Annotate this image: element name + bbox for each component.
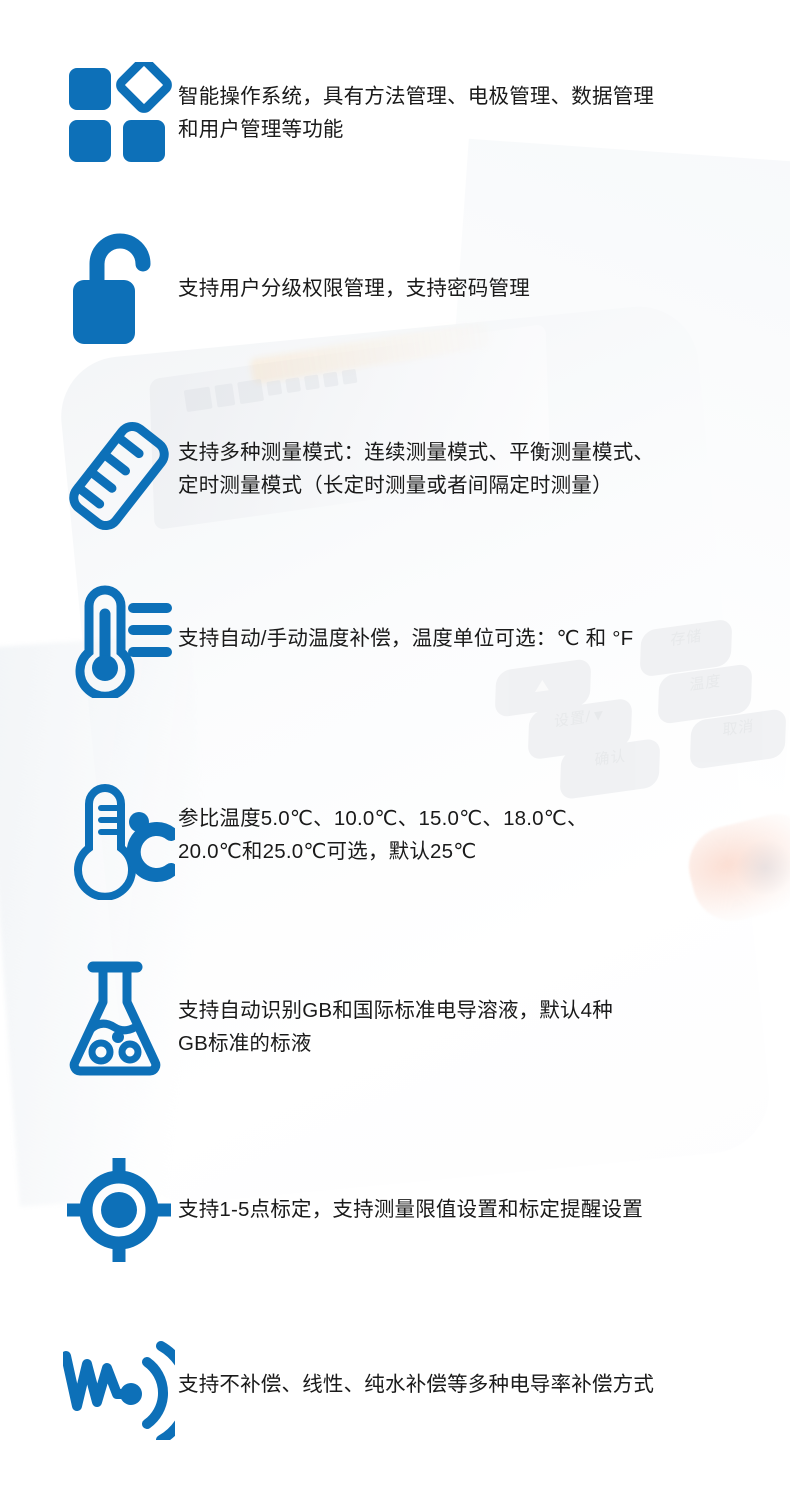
unlock-icon (60, 232, 178, 350)
feature-text: 支持不补偿、线性、纯水补偿等多种电导率补偿方式 (178, 1336, 654, 1401)
thermometer-celsius-icon (60, 782, 178, 900)
feature-text: 支持自动/手动温度补偿，温度单位可选：℃ 和 °F (178, 580, 633, 655)
flask-icon (60, 958, 178, 1076)
feature-row: 支持多种测量模式：连续测量模式、平衡测量模式、 定时测量模式（长定时测量或者间隔… (60, 420, 654, 532)
feature-text: 参比温度5.0℃、10.0℃、15.0℃、18.0℃、 20.0℃和25.0℃可… (178, 782, 588, 868)
feature-text: 智能操作系统，具有方法管理、电极管理、数据管理 和用户管理等功能 (178, 62, 654, 146)
feature-row: 支持用户分级权限管理，支持密码管理 (60, 232, 530, 350)
feature-row: 支持不补偿、线性、纯水补偿等多种电导率补偿方式 (60, 1336, 654, 1440)
target-crosshair-icon (60, 1155, 178, 1265)
feature-row: 支持1-5点标定，支持测量限值设置和标定提醒设置 (60, 1155, 643, 1265)
thermometer-lines-icon (60, 580, 178, 698)
app-grid-icon (60, 62, 178, 170)
ruler-icon (60, 420, 178, 532)
feature-row: 支持自动识别GB和国际标准电导溶液，默认4种 GB标准的标液 (60, 958, 613, 1076)
feature-text: 支持自动识别GB和国际标准电导溶液，默认4种 GB标准的标液 (178, 958, 613, 1060)
feature-row: 智能操作系统，具有方法管理、电极管理、数据管理 和用户管理等功能 (60, 62, 654, 170)
feature-list: 智能操作系统，具有方法管理、电极管理、数据管理 和用户管理等功能 支持用户分级权… (0, 0, 790, 1499)
feature-text: 支持1-5点标定，支持测量限值设置和标定提醒设置 (178, 1155, 643, 1226)
feature-text: 支持用户分级权限管理，支持密码管理 (178, 232, 530, 305)
feature-row: 参比温度5.0℃、10.0℃、15.0℃、18.0℃、 20.0℃和25.0℃可… (60, 782, 588, 900)
signal-waveform-icon (60, 1336, 178, 1440)
feature-text: 支持多种测量模式：连续测量模式、平衡测量模式、 定时测量模式（长定时测量或者间隔… (178, 420, 654, 502)
feature-row: 支持自动/手动温度补偿，温度单位可选：℃ 和 °F (60, 580, 633, 698)
